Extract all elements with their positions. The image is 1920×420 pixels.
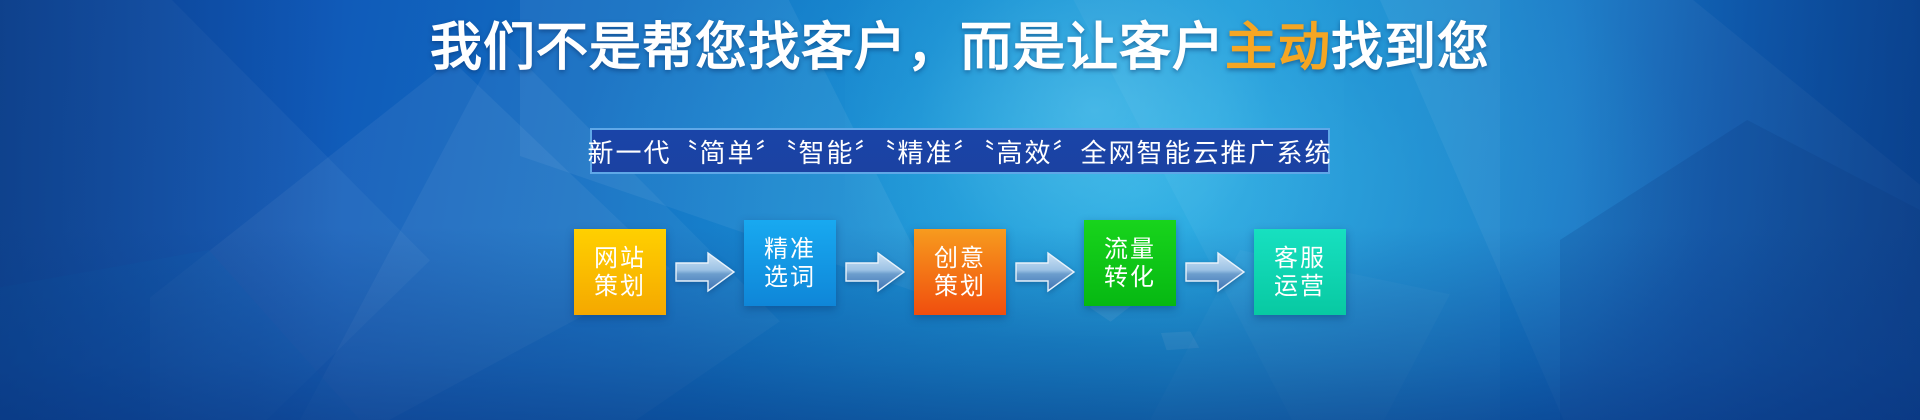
promo-banner: 我们不是帮您找客户，而是让客户主动找到您 新一代〝简单〞〝智能〞〝精准〞〝高效〞… (0, 0, 1920, 420)
step-traffic-conversion[interactable]: 流量 转化 (1084, 220, 1176, 306)
step-keyword-selection[interactable]: 精准 选词 (744, 220, 836, 306)
step-label-line2: 选词 (764, 263, 816, 291)
step-label-line1: 精准 (764, 235, 816, 263)
headline-highlight: 主动 (1225, 18, 1331, 78)
step-label-line1: 创意 (934, 244, 986, 272)
step-label-line2: 运营 (1274, 272, 1326, 300)
step-label-line2: 策划 (594, 272, 646, 300)
step-creative-planning[interactable]: 创意 策划 (914, 229, 1006, 315)
subtitle-bar: 新一代〝简单〞〝智能〞〝精准〞〝高效〞全网智能云推广系统 (590, 128, 1330, 174)
headline-part-1: 我们不是帮您找客户，而是让客户 (430, 18, 1225, 78)
step-label-line1: 客服 (1274, 244, 1326, 272)
step-label-line2: 转化 (1104, 263, 1156, 291)
next-step-arrow-icon (1184, 250, 1246, 294)
step-customer-service-ops[interactable]: 客服 运营 (1254, 229, 1346, 315)
process-steps: 网站 策划 精准 选词 (574, 220, 1346, 324)
step-website-planning[interactable]: 网站 策划 (574, 229, 666, 315)
next-step-arrow-icon (674, 250, 736, 294)
next-step-arrow-icon (844, 250, 906, 294)
step-label-line2: 策划 (934, 272, 986, 300)
headline: 我们不是帮您找客户，而是让客户主动找到您 (0, 22, 1920, 74)
step-label-line1: 流量 (1104, 235, 1156, 263)
step-label-line1: 网站 (594, 244, 646, 272)
subtitle-text: 新一代〝简单〞〝智能〞〝精准〞〝高效〞全网智能云推广系统 (588, 133, 1333, 170)
headline-part-2: 找到您 (1331, 18, 1490, 78)
next-step-arrow-icon (1014, 250, 1076, 294)
